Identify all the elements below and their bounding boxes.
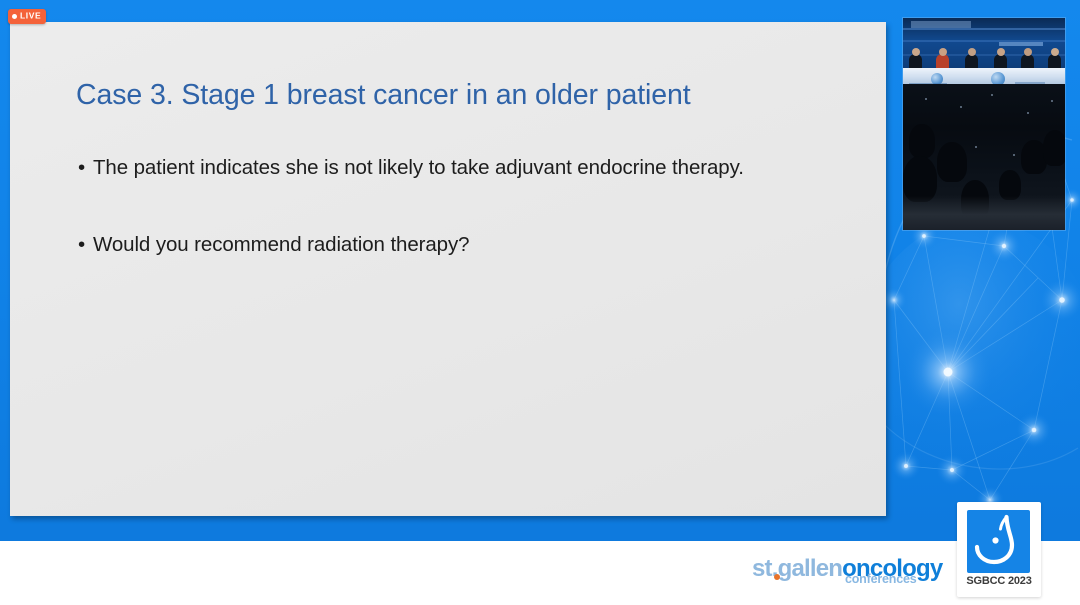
presentation-slide: Case 3. Stage 1 breast cancer in an olde… [10, 22, 886, 516]
slide-bullet-text: Would you recommend radiation therapy? [93, 231, 783, 259]
slide-bullet-item: • The patient indicates she is not likel… [76, 154, 836, 182]
bullet-marker-icon: • [78, 154, 85, 182]
slide-canvas: Case 3. Stage 1 breast cancer in an olde… [10, 22, 886, 516]
logo-text-st-gallen: st.gallen [752, 555, 842, 582]
live-dot-icon [12, 14, 17, 19]
aisle-floor [903, 196, 1065, 230]
broadcast-stage: Case 3. Stage 1 breast cancer in an olde… [0, 0, 1080, 605]
slide-bullet-item: • Would you recommend radiation therapy? [76, 231, 836, 259]
slide-bullet-text: The patient indicates she is not likely … [93, 154, 783, 182]
sgbcc-badge-label: SGBCC 2023 [957, 576, 1041, 587]
sgbcc-2023-badge: SGBCC 2023 [957, 502, 1041, 597]
camera-feed-scene [903, 18, 1065, 230]
live-status-badge: LIVE [8, 9, 46, 24]
slide-bullet-list: • The patient indicates she is not likel… [76, 154, 836, 259]
bullet-marker-icon: • [78, 231, 85, 259]
live-camera-feed[interactable] [903, 18, 1065, 230]
audience-area [903, 84, 1065, 230]
slide-title: Case 3. Stage 1 breast cancer in an olde… [76, 78, 866, 113]
logo-accent-dot-icon [774, 574, 780, 580]
live-badge-label: LIVE [20, 12, 41, 21]
sgbcc-swan-mark-icon [967, 510, 1030, 573]
logo-text-conferences: conferences [845, 573, 916, 586]
st-gallen-oncology-conferences-logo: st.gallenoncology conferences [752, 557, 944, 597]
